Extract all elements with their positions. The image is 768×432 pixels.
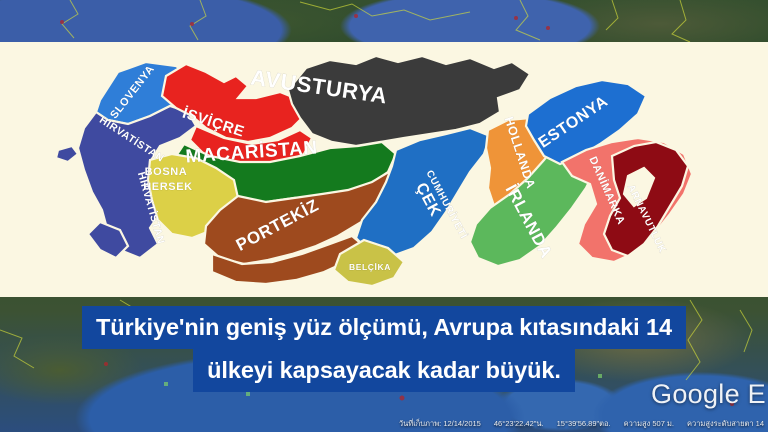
- status-eye-altitude: ความสูงระดับสายตา 14: [687, 418, 764, 430]
- status-longitude: 15°39'56.89"ตอ.: [557, 418, 611, 430]
- turkey-europe-overlay-map: SLOVENYA İSVİÇRE HIRVATİSTAN HIRVATİSTAN…: [0, 42, 768, 297]
- google-earth-status-bar: วันที่เก็บภาพ: 12/14/2015 46°23'22.42"น.…: [0, 416, 768, 432]
- video-frame: SLOVENYA İSVİÇRE HIRVATİSTAN HIRVATİSTAN…: [0, 0, 768, 432]
- map-svg: SLOVENYA İSVİÇRE HIRVATİSTAN HIRVATİSTAN…: [0, 42, 768, 297]
- map-label-bosna: BOSNA: [145, 166, 188, 178]
- status-capture-date: วันที่เก็บภาพ: 12/14/2015: [399, 418, 481, 430]
- map-label-hersek: HERSEK: [143, 181, 192, 193]
- region-hirvatistan-island: [56, 146, 78, 162]
- map-label-belcika: BELÇİKA: [349, 262, 391, 272]
- google-earth-watermark: Google E: [651, 379, 766, 410]
- status-latitude: 46°23'22.42"น.: [494, 418, 544, 430]
- status-elevation: ความสูง 507 ม.: [624, 418, 674, 430]
